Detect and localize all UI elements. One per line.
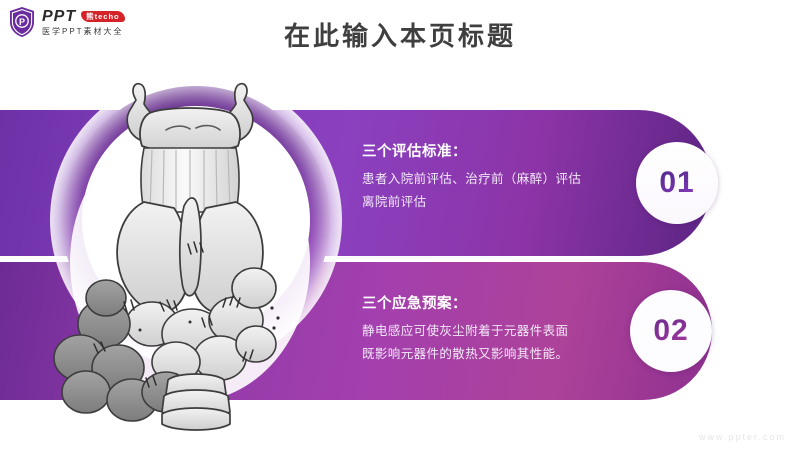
step-number-badge-02[interactable]: 02	[630, 290, 712, 372]
band-02-body-line-2: 既影响元器件的散热又影响其性能。	[362, 343, 568, 366]
band-01-heading: 三个评估标准：	[362, 140, 467, 161]
site-watermark: www.ppter.com	[699, 432, 786, 442]
band-01-body-line-2: 离院前评估	[362, 191, 581, 214]
band-02-heading: 三个应急预案：	[362, 292, 467, 313]
band-02-body-line-1: 静电感应可使灰尘附着于元器件表面	[362, 320, 568, 343]
band-01-body: 患者入院前评估、治疗前（麻醉）评估 离院前评估	[362, 168, 581, 214]
thyroid-gland-anatomy-illustration	[40, 62, 340, 432]
page-title: 在此输入本页标题	[0, 16, 800, 53]
step-number-02-label: 02	[653, 314, 688, 348]
step-number-01-label: 01	[659, 166, 694, 200]
step-number-badge-01[interactable]: 01	[636, 142, 718, 224]
band-01-body-line-1: 患者入院前评估、治疗前（麻醉）评估	[362, 168, 581, 191]
slide-canvas: P PPT 熊techo 医学PPT素材大全 在此输入本页标题	[0, 0, 800, 450]
band-02-body: 静电感应可使灰尘附着于元器件表面 既影响元器件的散热又影响其性能。	[362, 320, 568, 366]
illustration-group	[40, 62, 340, 432]
